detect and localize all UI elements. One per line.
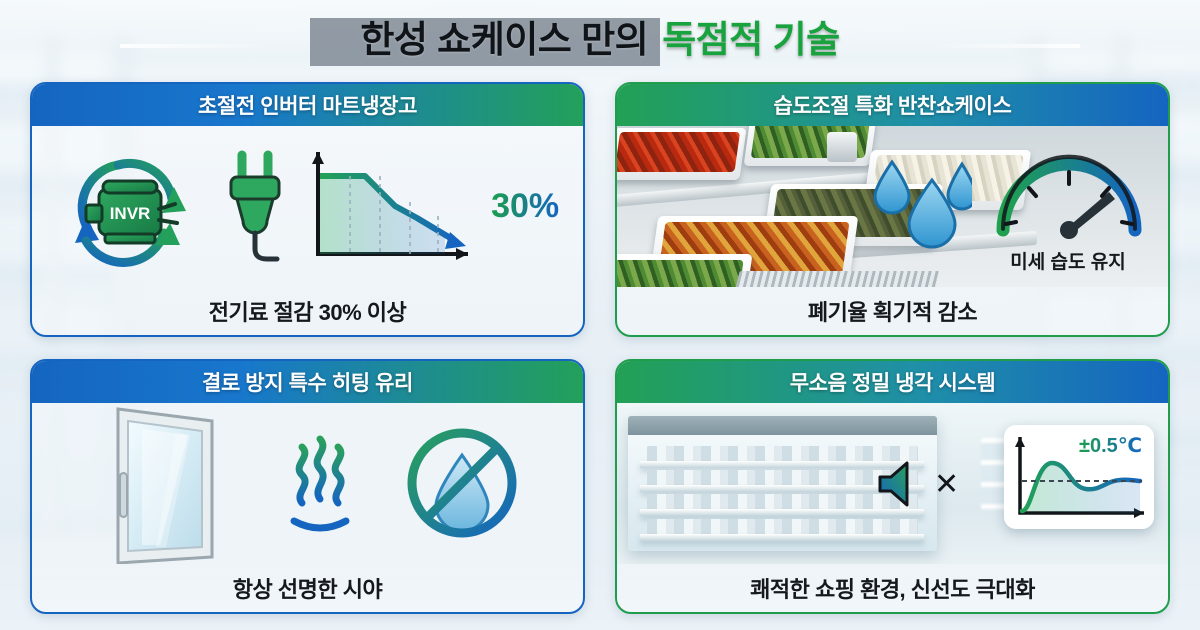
water-droplet-icon [862, 146, 972, 256]
food-tray [617, 254, 752, 287]
card-body: ✕ ±0.5℃ [617, 403, 1168, 612]
heat-waves-icon [280, 429, 360, 539]
temperature-stability-chart-icon: ±0.5℃ [1004, 425, 1154, 529]
feature-card-grid: 초절전 인버터 마트냉장고 [30, 82, 1170, 614]
feature-card-silent-precision-cooling[interactable]: 무소음 정밀 냉각 시스템 [615, 359, 1170, 614]
card-heading: 초절전 인버터 마트냉장고 [198, 90, 417, 120]
title-accent-line-right [930, 44, 1080, 48]
compressor-label: INVR [110, 204, 151, 223]
card-visual: ✕ ±0.5℃ [617, 403, 1168, 564]
glass-door-icon [90, 403, 240, 564]
card-header: 무소음 정밀 냉각 시스템 [617, 361, 1168, 403]
card-visual: 미세 습도 유지 [617, 126, 1168, 287]
card-body: 미세 습도 유지 폐기율 획기적 감소 [617, 126, 1168, 335]
mute-speaker-icon [872, 455, 930, 513]
card-visual: INVR [32, 126, 583, 287]
feature-card-inverter-mart-fridge[interactable]: 초절전 인버터 마트냉장고 [30, 82, 585, 337]
page-title-bar: 한성 쇼케이스 만의 독점적 기술 [0, 8, 1200, 64]
card-heading: 결로 방지 특수 히팅 유리 [202, 367, 413, 397]
savings-percent-label: 30% [491, 187, 559, 226]
card-body: INVR [32, 126, 583, 335]
title-accent-line-left [120, 44, 270, 48]
no-condensation-icon [400, 421, 525, 546]
card-caption: 폐기율 획기적 감소 [617, 287, 1168, 335]
card-heading: 습도조절 특화 반찬쇼케이스 [774, 90, 1012, 120]
mute-cross-icon: ✕ [934, 467, 959, 502]
card-visual [32, 403, 583, 564]
humidity-gauge-icon [981, 144, 1156, 244]
card-caption-text: 항상 선명한 시야 [233, 572, 382, 604]
feature-card-anti-condensation-glass[interactable]: 결로 방지 특수 히팅 유리 [30, 359, 585, 614]
card-heading: 무소음 정밀 냉각 시스템 [790, 367, 996, 397]
feature-card-humidity-banchan-showcase[interactable]: 습도조절 특화 반찬쇼케이스 [615, 82, 1170, 337]
page-title: 한성 쇼케이스 만의 독점적 기술 [360, 9, 839, 63]
card-caption: 전기료 절감 30% 이상 [32, 287, 583, 335]
card-caption-text: 폐기율 획기적 감소 [808, 295, 977, 327]
food-tray [617, 128, 747, 180]
page-title-main: 한성 쇼케이스 만의 [360, 9, 648, 63]
gauge-label: 미세 습도 유지 [978, 247, 1158, 274]
card-caption-text: 쾌적한 쇼핑 환경, 신선도 극대화 [750, 572, 1035, 604]
card-body: 항상 선명한 시야 [32, 403, 583, 612]
card-caption: 항상 선명한 시야 [32, 564, 583, 612]
card-caption-text: 전기료 절감 30% 이상 [209, 295, 407, 327]
declining-chart-icon [304, 142, 479, 272]
page-title-accent: 독점적 기술 [662, 9, 839, 63]
inverter-compressor-icon: INVR [56, 137, 206, 277]
card-header: 습도조절 특화 반찬쇼케이스 [617, 84, 1168, 126]
card-header: 초절전 인버터 마트냉장고 [32, 84, 583, 126]
card-header: 결로 방지 특수 히팅 유리 [32, 361, 583, 403]
card-caption: 쾌적한 쇼핑 환경, 신선도 극대화 [617, 564, 1168, 612]
power-plug-icon [218, 147, 293, 267]
temperature-tolerance-label: ±0.5℃ [1079, 433, 1142, 458]
